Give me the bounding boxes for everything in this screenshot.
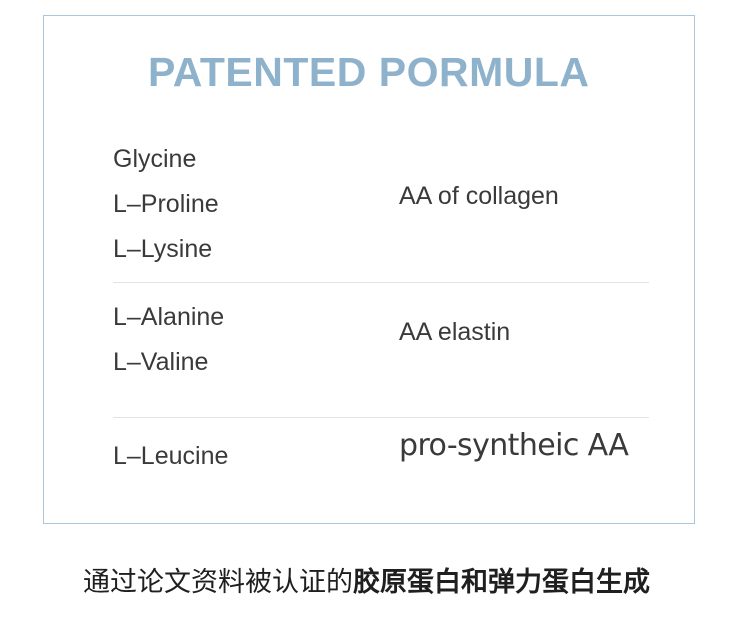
row-description: AA of collagen (399, 182, 559, 211)
formula-row: Glycine L–Proline L–Lysine AA of collage… (44, 126, 694, 283)
caption-text: 通过论文资料被认证的胶原蛋白和弹力蛋白生成 (0, 562, 733, 602)
amino-acid-item: L–Lysine (113, 227, 383, 272)
formula-row-list: Glycine L–Proline L–Lysine AA of collage… (44, 126, 694, 525)
row-description: pro-syntheic AA (399, 428, 628, 463)
amino-acid-list: L–Leucine (113, 434, 383, 479)
page-title: PATENTED PORMULA (148, 52, 590, 93)
amino-acid-list: L–Alanine L–Valine (113, 295, 383, 385)
amino-acid-item: L–Leucine (113, 434, 383, 479)
caption-normal-part: 通过论文资料被认证的 (83, 567, 353, 597)
formula-row: L–Alanine L–Valine AA elastin (44, 283, 694, 418)
patented-formula-card: PATENTED PORMULA Glycine L–Proline L–Lys… (43, 15, 695, 524)
amino-acid-item: Glycine (113, 137, 383, 182)
amino-acid-item: L–Valine (113, 340, 383, 385)
amino-acid-item: L–Proline (113, 182, 383, 227)
amino-acid-list: Glycine L–Proline L–Lysine (113, 137, 383, 272)
row-description: AA elastin (399, 318, 510, 347)
formula-row: L–Leucine pro-syntheic AA (44, 418, 694, 525)
amino-acid-item: L–Alanine (113, 295, 383, 340)
caption-bold-part: 胶原蛋白和弹力蛋白生成 (353, 567, 650, 597)
